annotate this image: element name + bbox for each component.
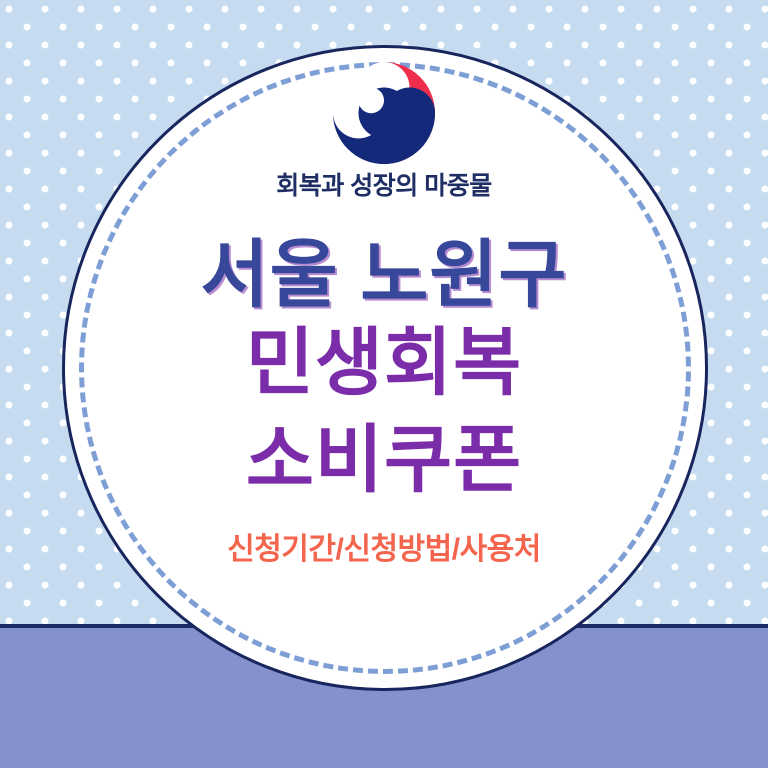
title-line-coupon: 소비쿠폰	[0, 415, 768, 505]
title-line-program: 민생회복	[0, 318, 768, 408]
korean-government-taegeuk-emblem	[324, 0, 444, 168]
poster-canvas: 회복과 성장의 마중물 서울 노원구 민생회복 소비쿠폰 신청기간/신청방법/사…	[0, 0, 768, 768]
emblem-subtitle: 회복과 성장의 마중물	[0, 174, 768, 199]
poster-content: 회복과 성장의 마중물 서울 노원구 민생회복 소비쿠폰 신청기간/신청방법/사…	[0, 0, 768, 565]
footnote-topics: 신청기간/신청방법/사용처	[0, 535, 768, 565]
title-line-district: 서울 노원구	[0, 237, 768, 312]
